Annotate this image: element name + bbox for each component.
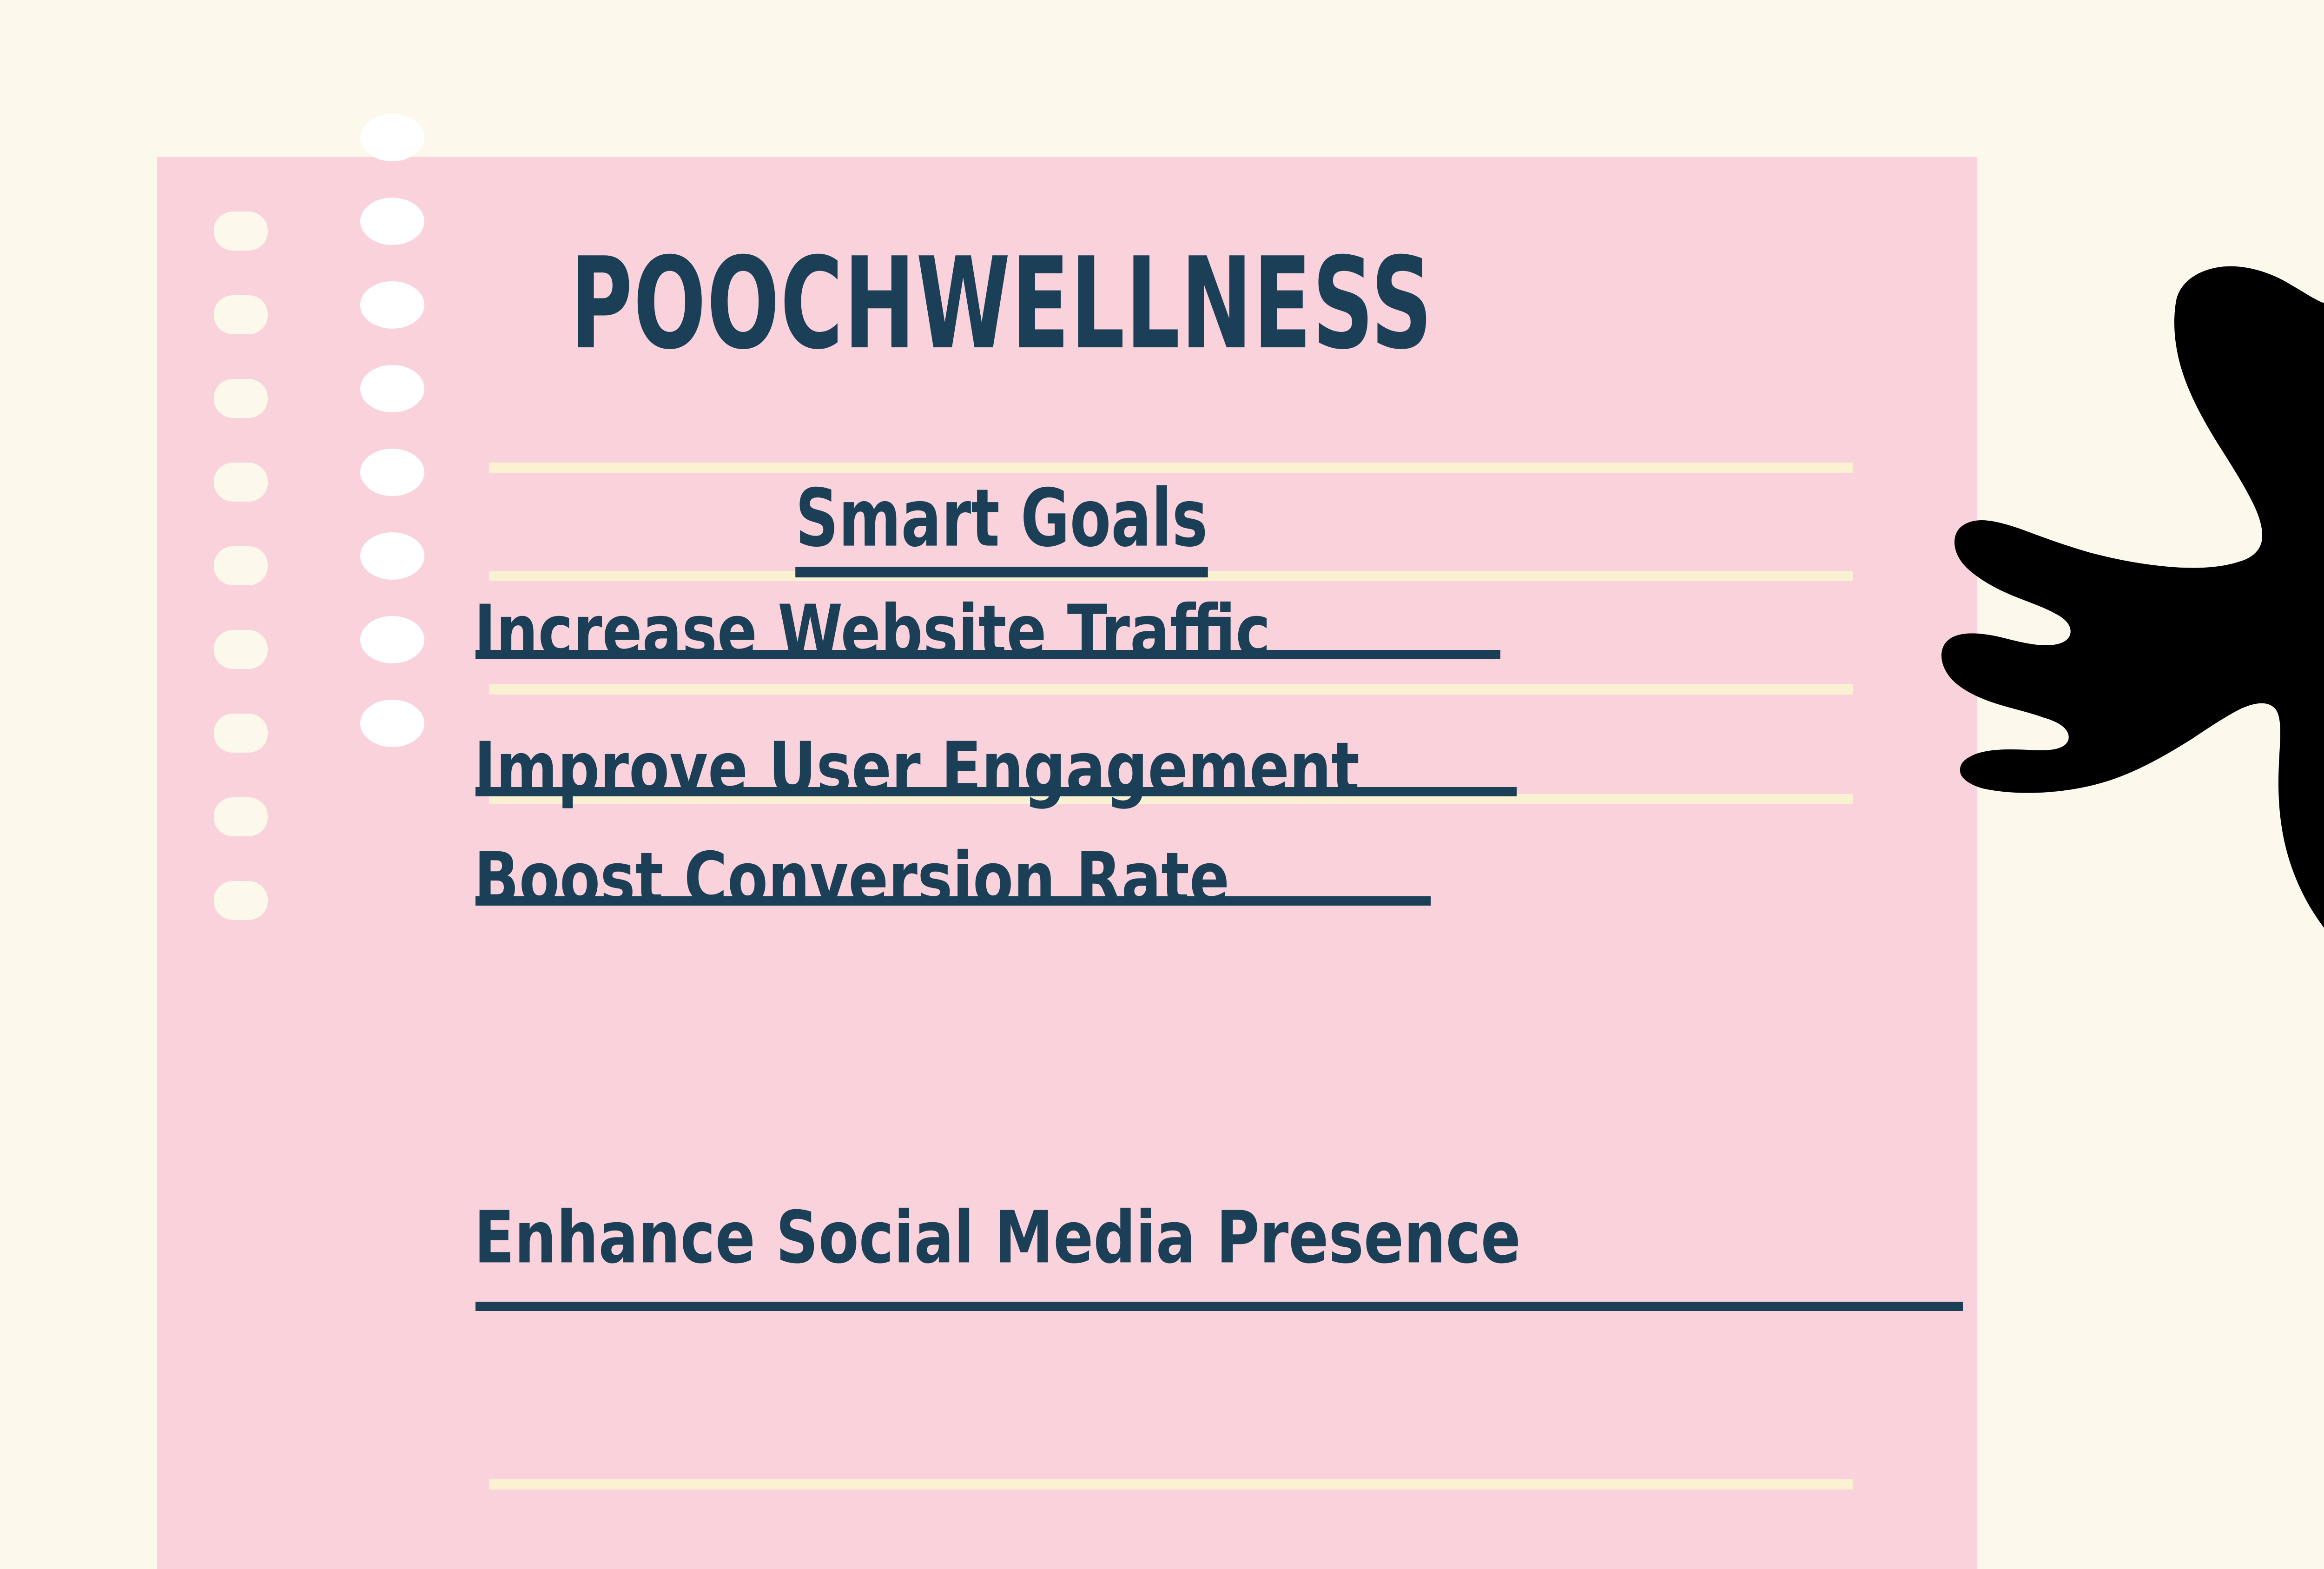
- goal-underline-3: [475, 896, 1431, 906]
- page-title: POOCHWELLNESS: [570, 246, 1433, 363]
- goal-item-1: Increase Website Traffic: [474, 589, 1271, 673]
- dog-rearing-silhouette-icon: [1901, 232, 2324, 1423]
- goal-underline-1: [475, 650, 1500, 659]
- goal-item-3: Boost Conversion Rate: [474, 837, 1229, 920]
- subtitle: Smart Goals: [795, 479, 1208, 577]
- goal-item-4: Enhance Social Media Presence: [474, 1196, 1521, 1279]
- goal-underline-4: [475, 1302, 1963, 1311]
- goal-item-2: Improve User Engagement: [474, 727, 1360, 810]
- subtitle-block: Smart Goals: [316, 479, 1687, 565]
- brand-title: POOCHWELLNESS: [316, 246, 1687, 345]
- ruled-line: [489, 1479, 1853, 1490]
- goal-underline-2: [475, 787, 1517, 796]
- ruled-line: [489, 463, 1853, 473]
- poster-canvas: POOCHWELLNESS Smart Goals Increase Websi…: [0, 0, 2324, 1569]
- ruled-line: [489, 684, 1853, 695]
